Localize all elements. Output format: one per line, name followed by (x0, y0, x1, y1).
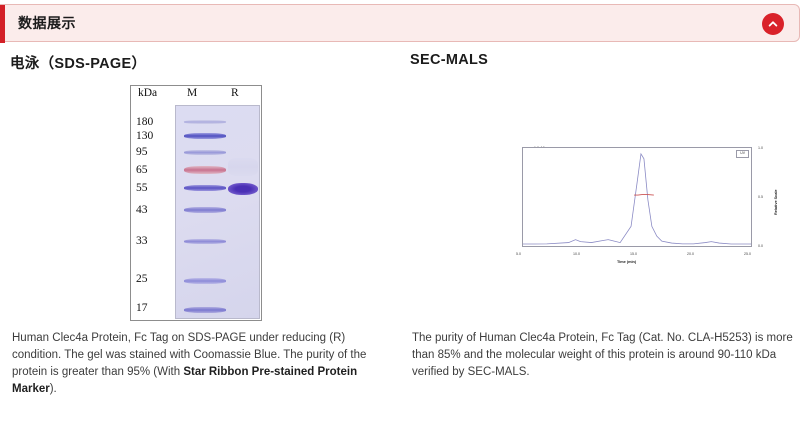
ladder-label-25: 25 (136, 273, 148, 285)
chart-series-uv (523, 154, 751, 244)
marker-band-130 (184, 133, 226, 139)
caption-sds-page-post: ). (50, 383, 57, 395)
gel-header-reducing: R (231, 87, 239, 99)
chart-x-axis-title: Time (min) (617, 260, 636, 264)
marker-band-55 (184, 185, 226, 191)
gel-column-headers: kDa M R (130, 87, 262, 103)
gel-lanes (175, 105, 260, 319)
ladder-label-55: 55 (136, 182, 148, 194)
marker-band-180 (184, 120, 226, 124)
right-column: SEC-MALS (410, 52, 800, 80)
sec-mals-chart-image: Molar Mass (g/mol) 1.0x10 1.0x10 1.0x10 … (410, 133, 790, 281)
chart-traces (523, 148, 751, 246)
marker-band-17 (184, 307, 226, 313)
ladder-label-95: 95 (136, 146, 148, 158)
sample-band-faint-upper (228, 158, 258, 176)
gel-header-kda: kDa (138, 87, 157, 99)
marker-band-25 (184, 278, 226, 284)
ladder-label-17: 17 (136, 302, 148, 314)
chart-plot-area: UV (522, 147, 752, 247)
chart-x-tick-0: 5.0 (516, 252, 521, 256)
sample-band-reducing (228, 183, 258, 195)
section-title-sec-mals: SEC-MALS (410, 52, 800, 68)
chart-x-tick-2: 15.0 (630, 252, 637, 256)
section-title-electrophoresis: 电泳（SDS-PAGE） (10, 52, 400, 73)
left-column: 电泳（SDS-PAGE） (10, 52, 400, 85)
chart-x-tick-4: 25.0 (744, 252, 751, 256)
chart-y2-tick-0: 1.0 (758, 146, 763, 150)
chart-x-tick-3: 20.0 (687, 252, 694, 256)
gel-header-marker: M (187, 87, 197, 99)
marker-band-95 (184, 150, 226, 155)
ladder-label-43: 43 (136, 204, 148, 216)
ladder-label-33: 33 (136, 235, 148, 247)
collapse-toggle-button[interactable] (762, 13, 784, 35)
header-accent-bar (0, 5, 5, 43)
chart-x-tick-1: 10.0 (573, 252, 580, 256)
chart-y2-axis-title: Relative Scale (774, 189, 778, 215)
marker-band-65 (184, 166, 226, 174)
sds-page-gel-image: kDa M R 180 130 95 65 55 43 33 25 17 (130, 85, 262, 321)
caption-sds-page: Human Clec4a Protein, Fc Tag on SDS-PAGE… (12, 330, 394, 398)
chart-y2-tick-1: 0.5 (758, 195, 763, 199)
ladder-label-130: 130 (136, 130, 153, 142)
panel-header: 数据展示 (0, 4, 800, 42)
chart-legend: UV (736, 150, 749, 158)
caption-sec-mals: The purity of Human Clec4a Protein, Fc T… (412, 330, 794, 381)
chart-y2-tick-2: 0.0 (758, 244, 763, 248)
ladder-label-65: 65 (136, 164, 148, 176)
marker-band-33 (184, 239, 226, 244)
ladder-label-180: 180 (136, 116, 153, 128)
chevron-up-icon (767, 18, 779, 30)
panel-title: 数据展示 (18, 13, 76, 33)
marker-band-43 (184, 207, 226, 213)
chart-legend-item-uv: UV (740, 151, 745, 155)
